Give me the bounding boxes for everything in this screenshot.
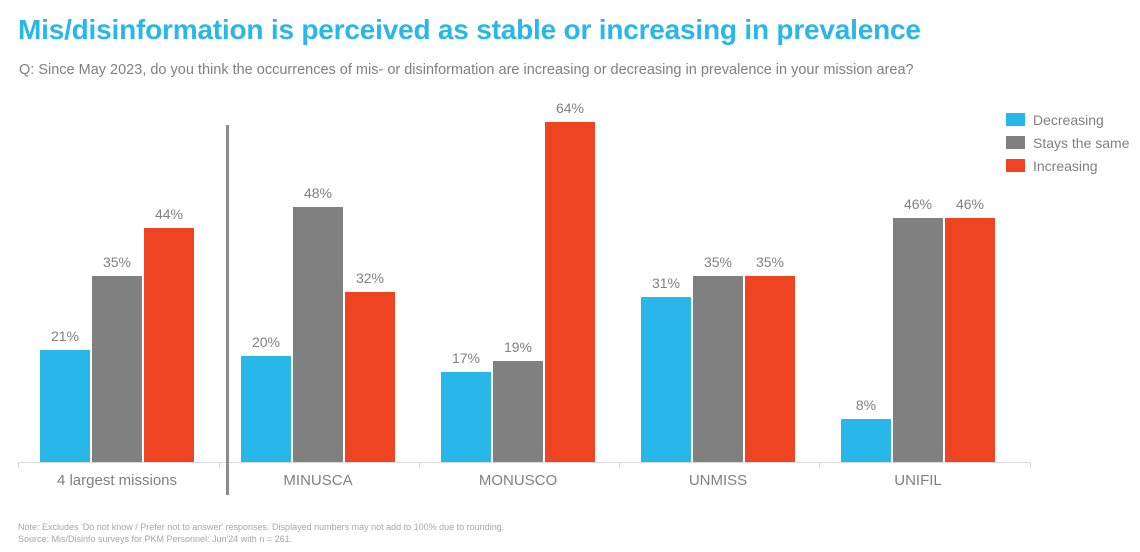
x-axis-tick <box>18 462 19 468</box>
bar[interactable] <box>641 297 691 462</box>
x-axis-category-label: MINUSCA <box>241 472 395 489</box>
x-axis-tick <box>219 462 220 468</box>
footnote-note: Note: Excludes 'Do not know / Prefer not… <box>18 521 504 533</box>
bar-value-label: 46% <box>937 196 1003 212</box>
bar[interactable] <box>144 228 194 462</box>
bar-value-label: 31% <box>633 275 699 291</box>
bar-chart-plot-area: 4 largest missions21%35%44%MINUSCA20%48%… <box>0 0 1140 552</box>
bar-value-label: 64% <box>537 100 603 116</box>
bar-value-label: 35% <box>84 254 150 270</box>
bar[interactable] <box>40 350 90 462</box>
bar[interactable] <box>545 122 595 462</box>
bar[interactable] <box>293 207 343 462</box>
bar[interactable] <box>745 276 795 462</box>
bar[interactable] <box>841 419 891 462</box>
x-axis-category-label: MONUSCO <box>441 472 595 489</box>
bar-value-label: 44% <box>136 206 202 222</box>
bar-value-label: 35% <box>737 254 803 270</box>
bar[interactable] <box>493 361 543 462</box>
bar-value-label: 20% <box>233 334 299 350</box>
x-axis-tick <box>419 462 420 468</box>
bar-value-label: 48% <box>285 185 351 201</box>
x-axis-line <box>18 462 1030 463</box>
group-divider-line <box>226 125 229 495</box>
bar[interactable] <box>345 292 395 462</box>
x-axis-tick <box>1030 462 1031 468</box>
bar-value-label: 21% <box>32 328 98 344</box>
bar[interactable] <box>893 218 943 462</box>
x-axis-category-label: UNMISS <box>641 472 795 489</box>
x-axis-tick <box>819 462 820 468</box>
x-axis-category-label: UNIFIL <box>841 472 995 489</box>
bar[interactable] <box>92 276 142 462</box>
x-axis-tick <box>619 462 620 468</box>
bar[interactable] <box>693 276 743 462</box>
bar[interactable] <box>241 356 291 462</box>
chart-footnotes: Note: Excludes 'Do not know / Prefer not… <box>18 521 504 545</box>
bar-value-label: 8% <box>833 397 899 413</box>
bar[interactable] <box>441 372 491 462</box>
x-axis-category-label: 4 largest missions <box>40 472 194 489</box>
footnote-source: Source: Mis/Disinfo surveys for PKM Pers… <box>18 533 504 545</box>
bar-value-label: 32% <box>337 270 403 286</box>
bar-value-label: 19% <box>485 339 551 355</box>
bar[interactable] <box>945 218 995 462</box>
